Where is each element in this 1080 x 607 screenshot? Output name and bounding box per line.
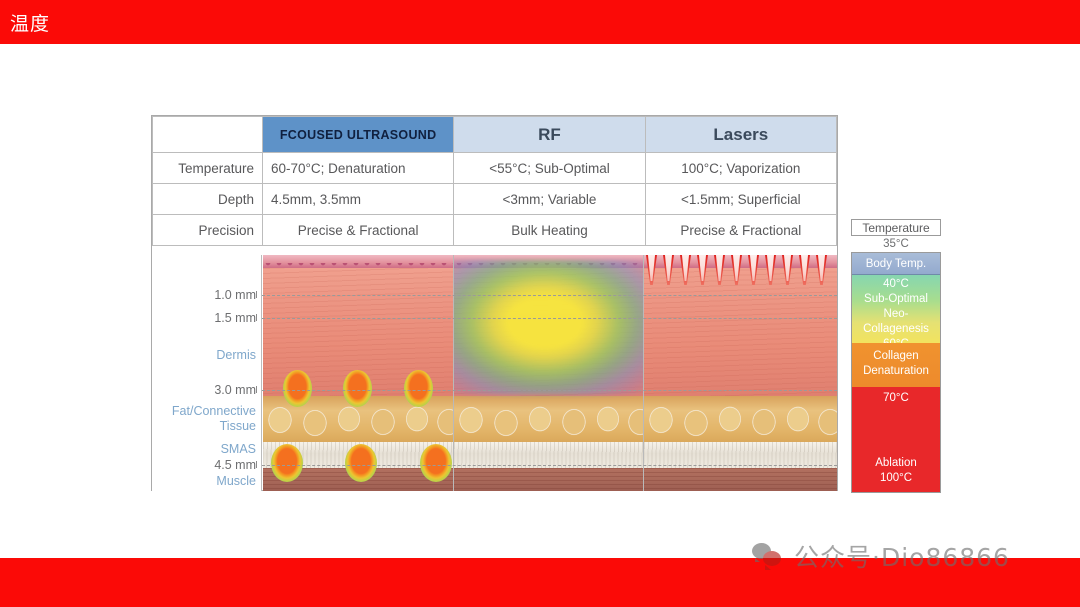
- slide-title: 温度: [10, 9, 50, 36]
- comparison-figure: FCOUSED ULTRASOUND RF Lasers Temperature…: [151, 115, 838, 491]
- wechat-icon: [752, 543, 785, 569]
- fat-cells: [454, 396, 644, 444]
- watermark-text: 公众号·Dio86866: [794, 538, 1010, 574]
- thermal-coagulation-point: [404, 370, 433, 407]
- layer-label-muscle: Muscle: [216, 474, 256, 488]
- thermal-coagulation-point: [343, 370, 372, 407]
- table-row: Temperature 60-70°C; Denaturation <55°C;…: [153, 153, 837, 184]
- table-header-row: FCOUSED ULTRASOUND RF Lasers: [153, 117, 837, 153]
- leader-line-4-5mm: [262, 465, 837, 466]
- header-lasers: Lasers: [645, 117, 836, 153]
- depth-label-3-0mm: 3.0 mm: [214, 383, 256, 397]
- tick-3-0mm: [256, 386, 257, 393]
- band-collagen-line2: Denaturation: [852, 364, 940, 379]
- table-corner-cell: [153, 117, 263, 153]
- cell-temperature-rf: <55°C; Sub-Optimal: [454, 153, 645, 184]
- band-ablation-value-100: 100°C: [852, 471, 940, 486]
- band-ablation-value-70: 70°C: [852, 387, 940, 406]
- depth-label-4-5mm: 4.5 mm: [214, 458, 256, 472]
- row-label-temperature: Temperature: [153, 153, 263, 184]
- row-label-depth: Depth: [153, 184, 263, 215]
- epidermis-rete-ridges: [263, 263, 453, 272]
- cell-depth-lasers: <1.5mm; Superficial: [645, 184, 836, 215]
- band-ablation: 70°C Ablation 100°C: [852, 387, 940, 492]
- comparison-table: FCOUSED ULTRASOUND RF Lasers Temperature…: [152, 116, 837, 246]
- rf-bulk-heating-zone: [453, 260, 644, 395]
- temperature-scale: Temperature 35°C Body Temp. 40°C Sub-Opt…: [851, 219, 941, 493]
- table-row: Depth 4.5mm, 3.5mm <3mm; Variable <1.5mm…: [153, 184, 837, 215]
- top-red-banner: 温度: [0, 0, 1080, 44]
- thermal-coagulation-point: [271, 444, 303, 482]
- muscle-layer: [454, 468, 644, 491]
- band-ablation-line1: Ablation: [852, 456, 940, 471]
- fat-layer: [454, 396, 644, 444]
- band-sub-optimal-line1: Sub-Optimal: [852, 292, 940, 307]
- band-collagen-line1: Collagen: [852, 349, 940, 364]
- tick-1-0mm: [256, 291, 257, 298]
- temperature-scale-bar: Body Temp. 40°C Sub-Optimal Neo-Collagen…: [851, 252, 941, 493]
- depth-label-1-0mm: 1.0 mm: [214, 288, 256, 302]
- depth-axis-legend: 1.0 mm 1.5 mm Dermis 3.0 mm Fat/Connecti…: [152, 255, 262, 491]
- thermal-coagulation-point: [283, 370, 312, 407]
- cell-temperature-lasers: 100°C; Vaporization: [645, 153, 836, 184]
- temperature-scale-top-value: 35°C: [851, 236, 941, 252]
- rf-panel: [453, 255, 644, 491]
- header-rf: RF: [454, 117, 645, 153]
- slide-canvas: 温度 FCOUSED ULTRASOUND RF Lasers Temperat…: [0, 0, 1080, 607]
- cell-depth-rf: <3mm; Variable: [454, 184, 645, 215]
- fat-layer: [644, 396, 837, 444]
- tick-1-5mm: [256, 314, 257, 321]
- header-focused-ultrasound: FCOUSED ULTRASOUND: [263, 117, 454, 153]
- dermis-layer: [644, 268, 837, 396]
- band-sub-optimal-value-40: 40°C: [852, 277, 940, 292]
- band-collagen-denaturation: Collagen Denaturation: [852, 343, 940, 387]
- cell-depth-fu: 4.5mm, 3.5mm: [263, 184, 454, 215]
- depth-label-1-5mm: 1.5 mm: [214, 311, 256, 325]
- muscle-layer: [644, 468, 837, 491]
- layer-label-smas: SMAS: [221, 442, 256, 456]
- layer-label-tissue: Tissue: [220, 419, 256, 433]
- panels-container: [263, 255, 837, 491]
- leader-line-3-0mm: [262, 390, 837, 391]
- layer-label-dermis: Dermis: [216, 348, 256, 362]
- band-ablation-label: Ablation 100°C: [852, 456, 940, 486]
- band-body-temp: Body Temp.: [852, 253, 940, 275]
- lasers-panel: [643, 255, 837, 491]
- row-label-precision: Precision: [153, 215, 263, 246]
- temperature-scale-title: Temperature: [851, 219, 941, 236]
- band-sub-optimal-line2: Neo-Collagenesis: [852, 307, 940, 337]
- cell-precision-fu: Precise & Fractional: [263, 215, 454, 246]
- leader-line-1-0mm: [262, 295, 837, 296]
- skin-illustration-row: 1.0 mm 1.5 mm Dermis 3.0 mm Fat/Connecti…: [152, 255, 837, 491]
- table-row: Precision Precise & Fractional Bulk Heat…: [153, 215, 837, 246]
- cell-precision-rf: Bulk Heating: [454, 215, 645, 246]
- skin-cross-section: [644, 255, 837, 491]
- band-sub-optimal: 40°C Sub-Optimal Neo-Collagenesis 60°C: [852, 275, 940, 343]
- focused-ultrasound-panel: [263, 255, 453, 491]
- thermal-coagulation-point: [420, 444, 452, 482]
- cell-precision-lasers: Precise & Fractional: [645, 215, 836, 246]
- layer-label-fat-connective: Fat/Connective: [172, 404, 256, 418]
- cell-temperature-fu: 60-70°C; Denaturation: [263, 153, 454, 184]
- thermal-coagulation-point: [345, 444, 377, 482]
- watermark: 公众号·Dio86866: [752, 538, 1010, 574]
- tick-4-5mm: [256, 461, 257, 468]
- fat-cells: [644, 396, 837, 444]
- leader-line-1-5mm: [262, 318, 837, 319]
